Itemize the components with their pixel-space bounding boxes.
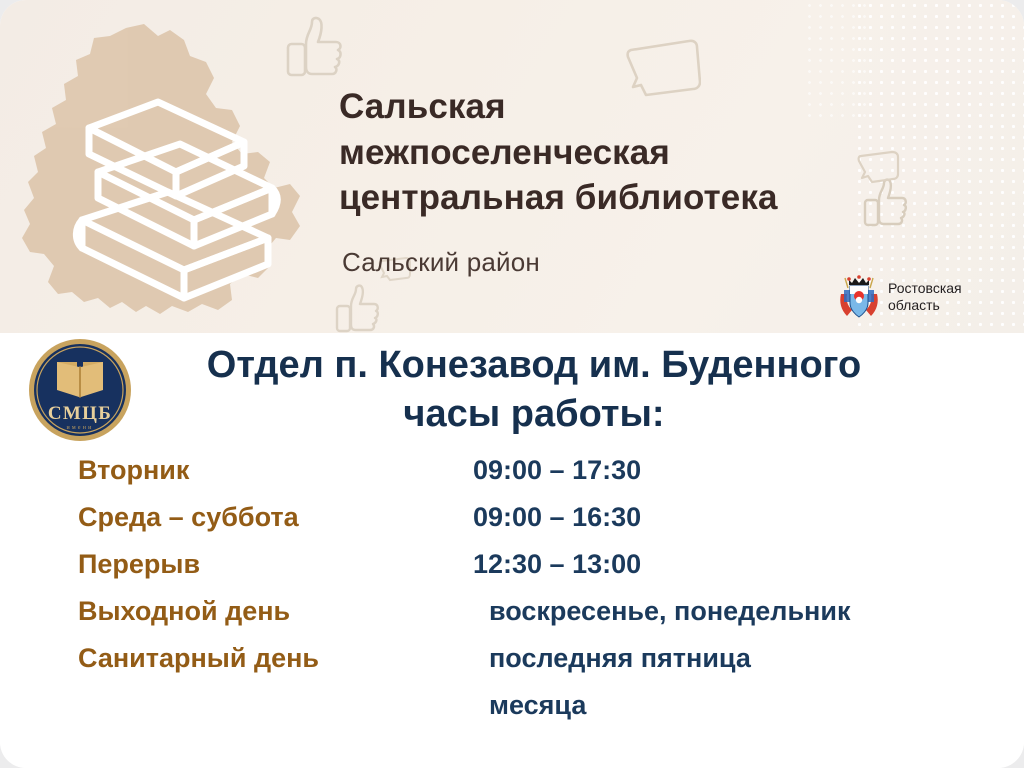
banner-title-line-3: центральная библиотека <box>339 175 939 221</box>
rostov-region-line-1: Ростовская <box>888 280 962 297</box>
schedule-content: СМЦБ имени Отдел п. Конезавод им. Буденн… <box>0 333 1024 768</box>
rostov-region-badge: Ростовская область <box>838 272 962 322</box>
library-banner: Сальская межпоселенческая центральная би… <box>0 0 1024 333</box>
page-title: Отдел п. Конезавод им. Буденного часы ра… <box>120 341 948 440</box>
schedule-row: Перерыв 12:30 – 13:00 <box>78 549 968 596</box>
schedule-label: Санитарный день <box>78 643 473 674</box>
rostov-region-line-2: область <box>888 297 962 314</box>
seal-sub-text: имени <box>66 425 93 431</box>
schedule-row: Выходной день воскресенье, понедельник <box>78 596 968 643</box>
rostov-oblast-coat-of-arms-icon <box>838 272 880 322</box>
schedule-value: воскресенье, понедельник <box>473 596 850 627</box>
schedule-label: Среда – суббота <box>78 502 473 533</box>
schedule-row-continuation: месяца <box>78 690 968 737</box>
schedule-row: Санитарный день последняя пятница <box>78 643 968 690</box>
rostov-region-label: Ростовская область <box>888 280 962 314</box>
thumbs-up-icon <box>334 282 382 333</box>
schedule-value: месяца <box>473 690 586 721</box>
thumbs-up-icon <box>284 14 346 86</box>
schedule-value: 12:30 – 13:00 <box>473 549 641 580</box>
library-seal-logo: СМЦБ имени <box>27 337 133 443</box>
schedule-value: 09:00 – 16:30 <box>473 502 641 533</box>
banner-title-line-1: Сальская <box>339 84 939 130</box>
banner-subtitle: Сальский район <box>342 247 540 278</box>
poster-card: Сальская межпоселенческая центральная би… <box>0 0 1024 768</box>
schedule-value: последняя пятница <box>473 643 751 674</box>
schedule-value: 09:00 – 17:30 <box>473 455 641 486</box>
schedule-label: Вторник <box>78 455 473 486</box>
schedule-row: Вторник 09:00 – 17:30 <box>78 455 968 502</box>
schedule-label: Выходной день <box>78 596 473 627</box>
stacked-books-outline-icon <box>72 98 312 303</box>
page-title-line-1: Отдел п. Конезавод им. Буденного <box>120 341 948 390</box>
schedule-row: Среда – суббота 09:00 – 16:30 <box>78 502 968 549</box>
banner-title: Сальская межпоселенческая центральная би… <box>339 84 939 221</box>
banner-title-line-2: межпоселенческая <box>339 130 939 176</box>
schedule-label: Перерыв <box>78 549 473 580</box>
page-title-line-2: часы работы: <box>120 390 948 439</box>
schedule-table: Вторник 09:00 – 17:30 Среда – суббота 09… <box>78 455 968 737</box>
seal-abbr-text: СМЦБ <box>48 403 112 424</box>
